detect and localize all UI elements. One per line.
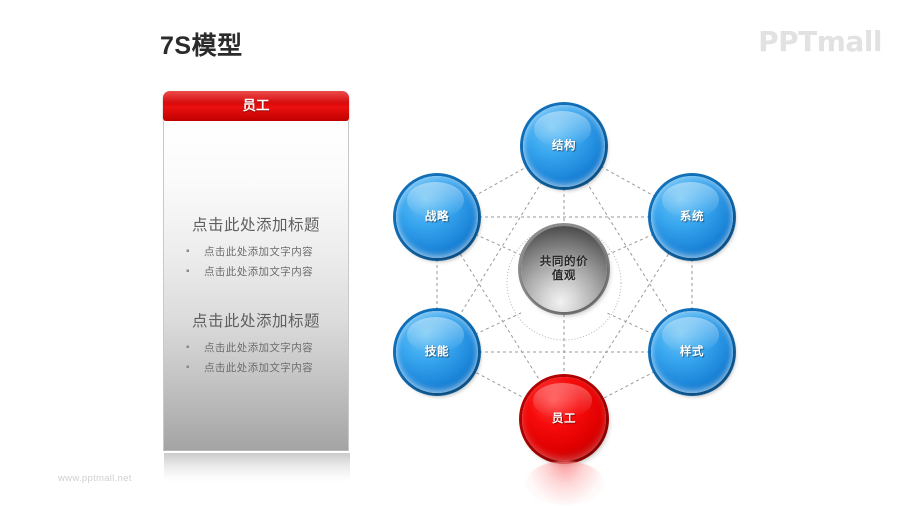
slide-canvas: 7S模型 PPTmall www.pptmall.net 员工 点击此处添加标题…: [0, 0, 900, 506]
node-structure[interactable]: 结构: [523, 105, 605, 187]
node-staff[interactable]: 员工: [522, 377, 606, 461]
panel-header-banner[interactable]: 员工: [163, 91, 349, 121]
footer-url: www.pptmall.net: [58, 473, 132, 484]
node-shared-values[interactable]: 共同的价 值观: [521, 226, 607, 312]
brand-logo: PPTmall: [758, 25, 882, 58]
node-systems[interactable]: 系统: [651, 176, 733, 258]
block-1-bullet-list: ▪ 点击此处添加文字内容 ▪ 点击此处添加文字内容: [170, 242, 342, 282]
node-style[interactable]: 样式: [651, 311, 733, 393]
list-item-label: 点击此处添加文字内容: [204, 266, 313, 278]
bullet-dot-icon: ▪: [186, 358, 190, 378]
block-2-title[interactable]: 点击此处添加标题: [170, 309, 342, 331]
node-systems-label: 系统: [680, 210, 704, 224]
bullet-dot-icon: ▪: [186, 338, 190, 358]
panel-body: 点击此处添加标题 ▪ 点击此处添加文字内容 ▪ 点击此处添加文字内容 点击此处添…: [163, 121, 349, 451]
node-staff-label: 员工: [552, 412, 576, 426]
node-skills[interactable]: 技能: [396, 311, 478, 393]
node-strategy[interactable]: 战略: [396, 176, 478, 258]
list-item[interactable]: ▪ 点击此处添加文字内容: [170, 262, 342, 282]
left-text-panel: 员工 点击此处添加标题 ▪ 点击此处添加文字内容 ▪ 点击此处添加文字内容 点击: [163, 91, 349, 451]
text-block-2: 点击此处添加标题 ▪ 点击此处添加文字内容 ▪ 点击此处添加文字内容: [164, 282, 348, 378]
text-block-1: 点击此处添加标题 ▪ 点击此处添加文字内容 ▪ 点击此处添加文字内容: [164, 121, 348, 282]
bullet-dot-icon: ▪: [186, 242, 190, 262]
list-item-label: 点击此处添加文字内容: [204, 362, 313, 374]
node-skills-label: 技能: [425, 345, 449, 359]
list-item-label: 点击此处添加文字内容: [204, 246, 313, 258]
node-strategy-label: 战略: [425, 210, 449, 224]
block-2-bullet-list: ▪ 点击此处添加文字内容 ▪ 点击此处添加文字内容: [170, 338, 342, 378]
panel-header-label: 员工: [163, 91, 349, 121]
node-style-label: 样式: [680, 345, 704, 359]
panel-reflection: [164, 453, 350, 483]
node-structure-label: 结构: [552, 139, 576, 153]
seven-s-diagram: 共同的价 值观 结构 系统 样式 员工 技能 战略: [370, 85, 780, 475]
node-shared-values-label: 共同的价 值观: [540, 255, 588, 283]
list-item[interactable]: ▪ 点击此处添加文字内容: [170, 242, 342, 262]
list-item[interactable]: ▪ 点击此处添加文字内容: [170, 358, 342, 378]
page-title: 7S模型: [160, 26, 243, 62]
list-item[interactable]: ▪ 点击此处添加文字内容: [170, 338, 342, 358]
list-item-label: 点击此处添加文字内容: [204, 342, 313, 354]
bullet-dot-icon: ▪: [186, 262, 190, 282]
node-staff-reflection: [526, 461, 604, 505]
block-1-title[interactable]: 点击此处添加标题: [170, 213, 342, 235]
